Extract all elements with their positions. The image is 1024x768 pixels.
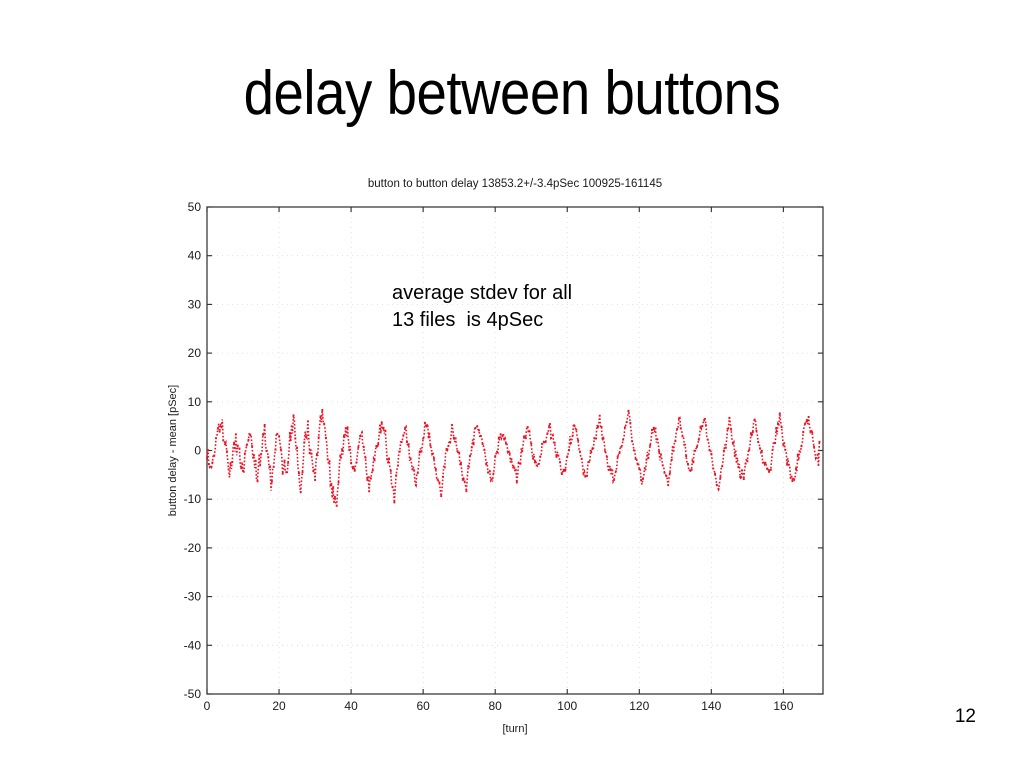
y-axis-tick-labels: -50-40-30-20-1001020304050 (184, 200, 202, 701)
y-tick-label: -50 (184, 687, 202, 701)
x-tick-label: 160 (773, 699, 793, 713)
x-tick-label: 140 (701, 699, 721, 713)
annotation-line-1: average stdev for all (392, 282, 572, 304)
y-tick-label: -20 (184, 541, 202, 555)
x-tick-label: 40 (344, 699, 358, 713)
data-series-trace (206, 409, 820, 507)
chart-figure: button to button delay 13853.2+/-3.4pSec… (160, 178, 850, 738)
page-title: delay between buttons (61, 58, 962, 130)
x-axis-tick-labels: 020406080100120140160 (204, 699, 794, 713)
annotation-line-2: 13 files is 4pSec (392, 309, 543, 331)
plot-area: 020406080100120140160 -50-40-30-20-10010… (160, 178, 850, 738)
y-axis-label: button delay - mean [pSec] (167, 385, 179, 516)
chart-annotation: average stdev for all13 files is 4pSec (392, 280, 572, 334)
y-tick-label: -10 (184, 492, 202, 506)
slide-canvas: delay between buttons button to button d… (0, 0, 1024, 768)
y-tick-label: 50 (188, 200, 202, 214)
x-axis-label: [turn] (502, 723, 527, 735)
y-tick-label: 20 (188, 346, 202, 360)
y-tick-label: 10 (188, 395, 202, 409)
x-tick-label: 60 (416, 699, 430, 713)
y-tick-label: 40 (188, 249, 202, 263)
slide-page-number: 12 (955, 706, 976, 728)
x-tick-label: 0 (204, 699, 211, 713)
x-tick-label: 120 (629, 699, 649, 713)
x-tick-label: 100 (557, 699, 577, 713)
y-tick-label: -30 (184, 590, 202, 604)
x-tick-label: 80 (489, 699, 503, 713)
x-tick-label: 20 (272, 699, 286, 713)
y-tick-label: 0 (194, 444, 201, 458)
y-tick-label: -40 (184, 638, 202, 652)
y-tick-label: 30 (188, 297, 202, 311)
